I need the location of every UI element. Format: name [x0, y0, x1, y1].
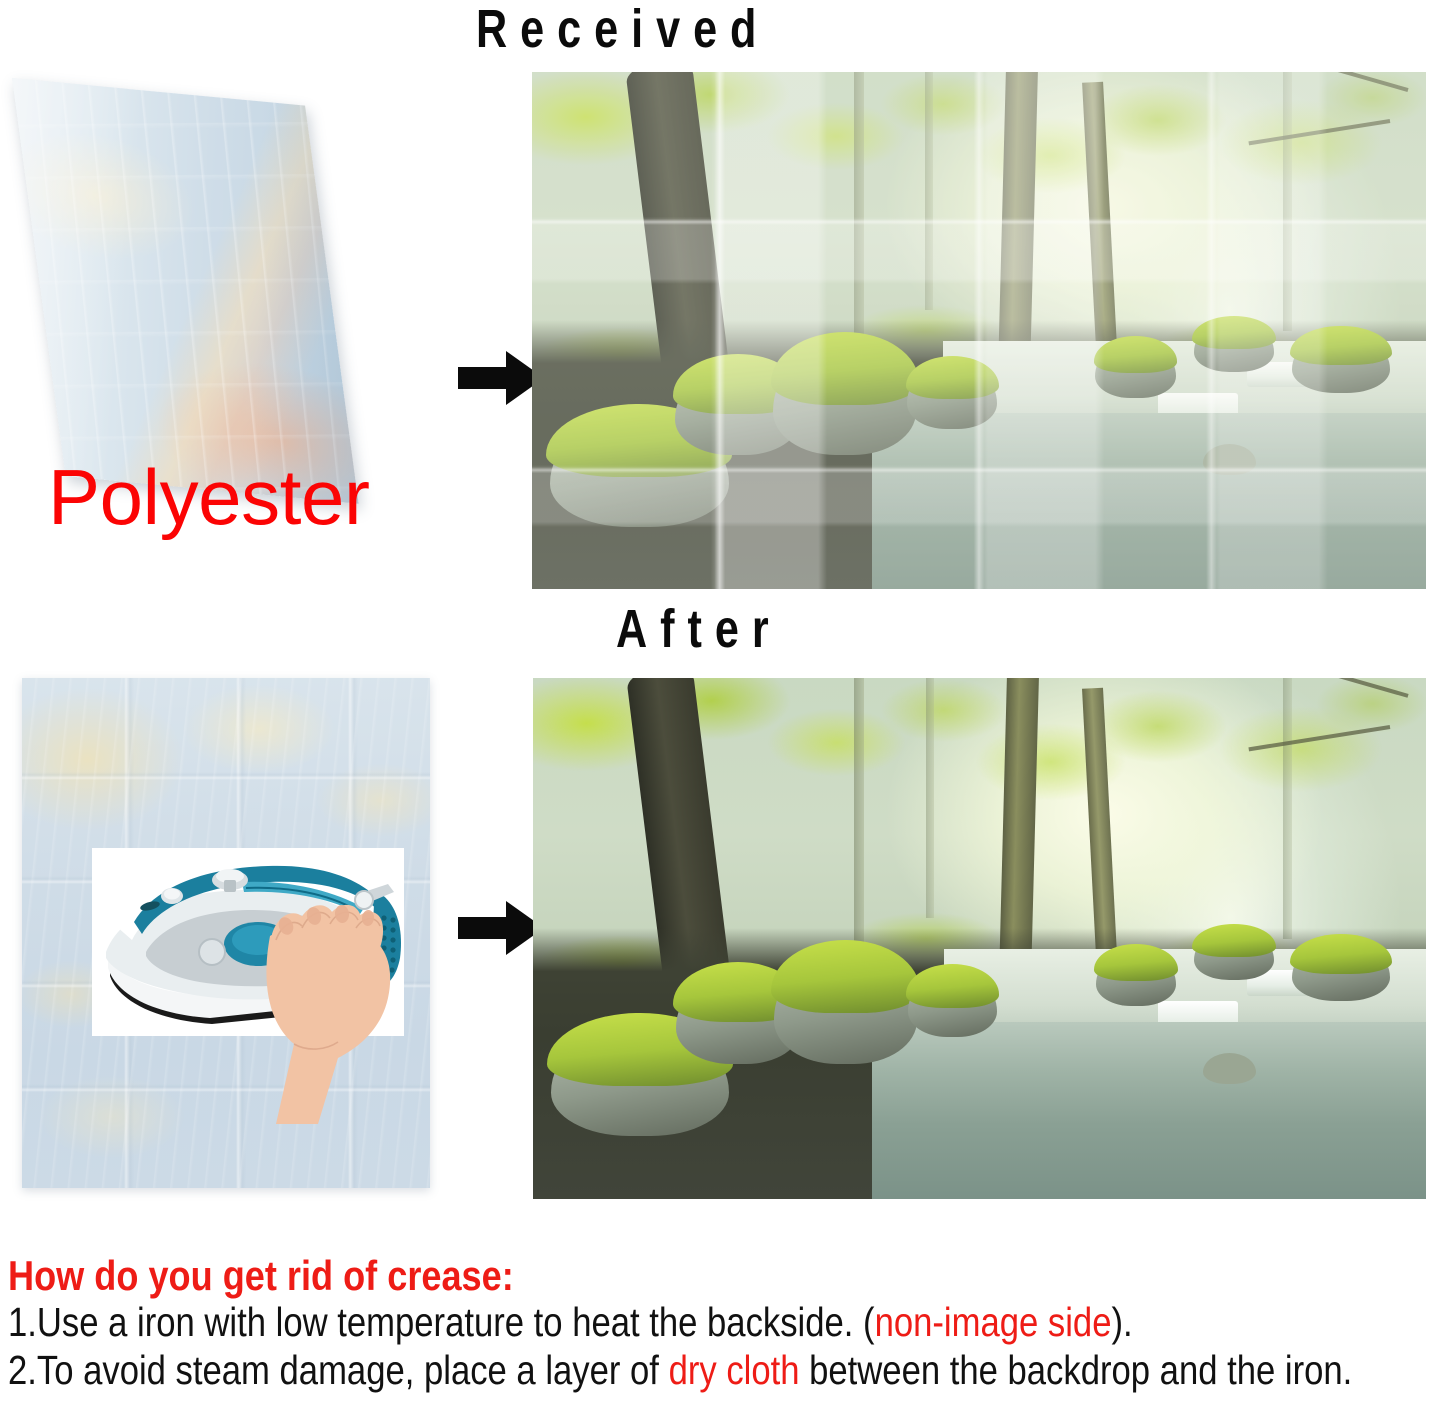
stream-pool — [872, 1022, 1426, 1199]
mossy-rock — [1292, 331, 1390, 393]
after-backdrop-photo — [533, 678, 1426, 1199]
mossy-rock — [1194, 928, 1274, 980]
stream-pool — [872, 413, 1426, 589]
mossy-rock — [774, 949, 917, 1064]
mossy-rock — [1095, 341, 1175, 398]
polyester-label: Polyester — [48, 458, 370, 536]
folded-polyester-panel — [0, 70, 440, 500]
mossy-rock — [1096, 949, 1176, 1006]
section-title-after: After — [616, 602, 782, 656]
tree-trunk-thin — [1283, 72, 1292, 331]
instruction-line-2-part1: 2.To avoid steam damage, place a layer o… — [8, 1347, 669, 1393]
forest-scene-received — [532, 72, 1426, 589]
instruction-line-1-part2: ). — [1111, 1299, 1132, 1345]
mossy-rock — [1194, 320, 1274, 372]
mossy-rock — [1292, 939, 1390, 1002]
mossy-rock — [907, 362, 996, 429]
tree-trunk-thin — [926, 678, 934, 918]
instructions-heading: How do you get rid of crease: — [8, 1252, 1233, 1299]
received-backdrop-photo — [532, 72, 1426, 589]
care-instructions: How do you get rid of crease: 1.Use a ir… — [8, 1252, 1432, 1394]
section-title-received: Received — [476, 2, 769, 56]
right-arrow-icon — [458, 899, 544, 957]
instruction-line-2-highlight: dry cloth — [669, 1347, 800, 1393]
tree-trunk-thin — [854, 678, 864, 949]
stream-rock — [1203, 444, 1257, 475]
forest-scene-after — [533, 678, 1426, 1199]
tree-trunk-thin — [1283, 678, 1292, 939]
mossy-rock — [908, 970, 997, 1038]
stream-rock — [1203, 1053, 1257, 1084]
tree-trunk-thin — [925, 72, 933, 310]
tree-trunk-thin — [854, 72, 864, 341]
iron-photo-card — [92, 848, 404, 1036]
instruction-line-2: 2.To avoid steam damage, place a layer o… — [8, 1347, 1211, 1395]
instruction-line-1-part1: 1.Use a iron with low temperature to hea… — [8, 1299, 875, 1345]
instruction-line-1-highlight: non-image side — [875, 1299, 1112, 1345]
instruction-line-1: 1.Use a iron with low temperature to hea… — [8, 1299, 1211, 1347]
mossy-rock — [773, 341, 916, 455]
instruction-line-2-part2: between the backdrop and the iron. — [800, 1347, 1353, 1393]
folded-polyester-cloth — [12, 78, 359, 504]
hand-icon — [242, 894, 422, 1124]
backdrop-backside-panel — [22, 678, 430, 1188]
